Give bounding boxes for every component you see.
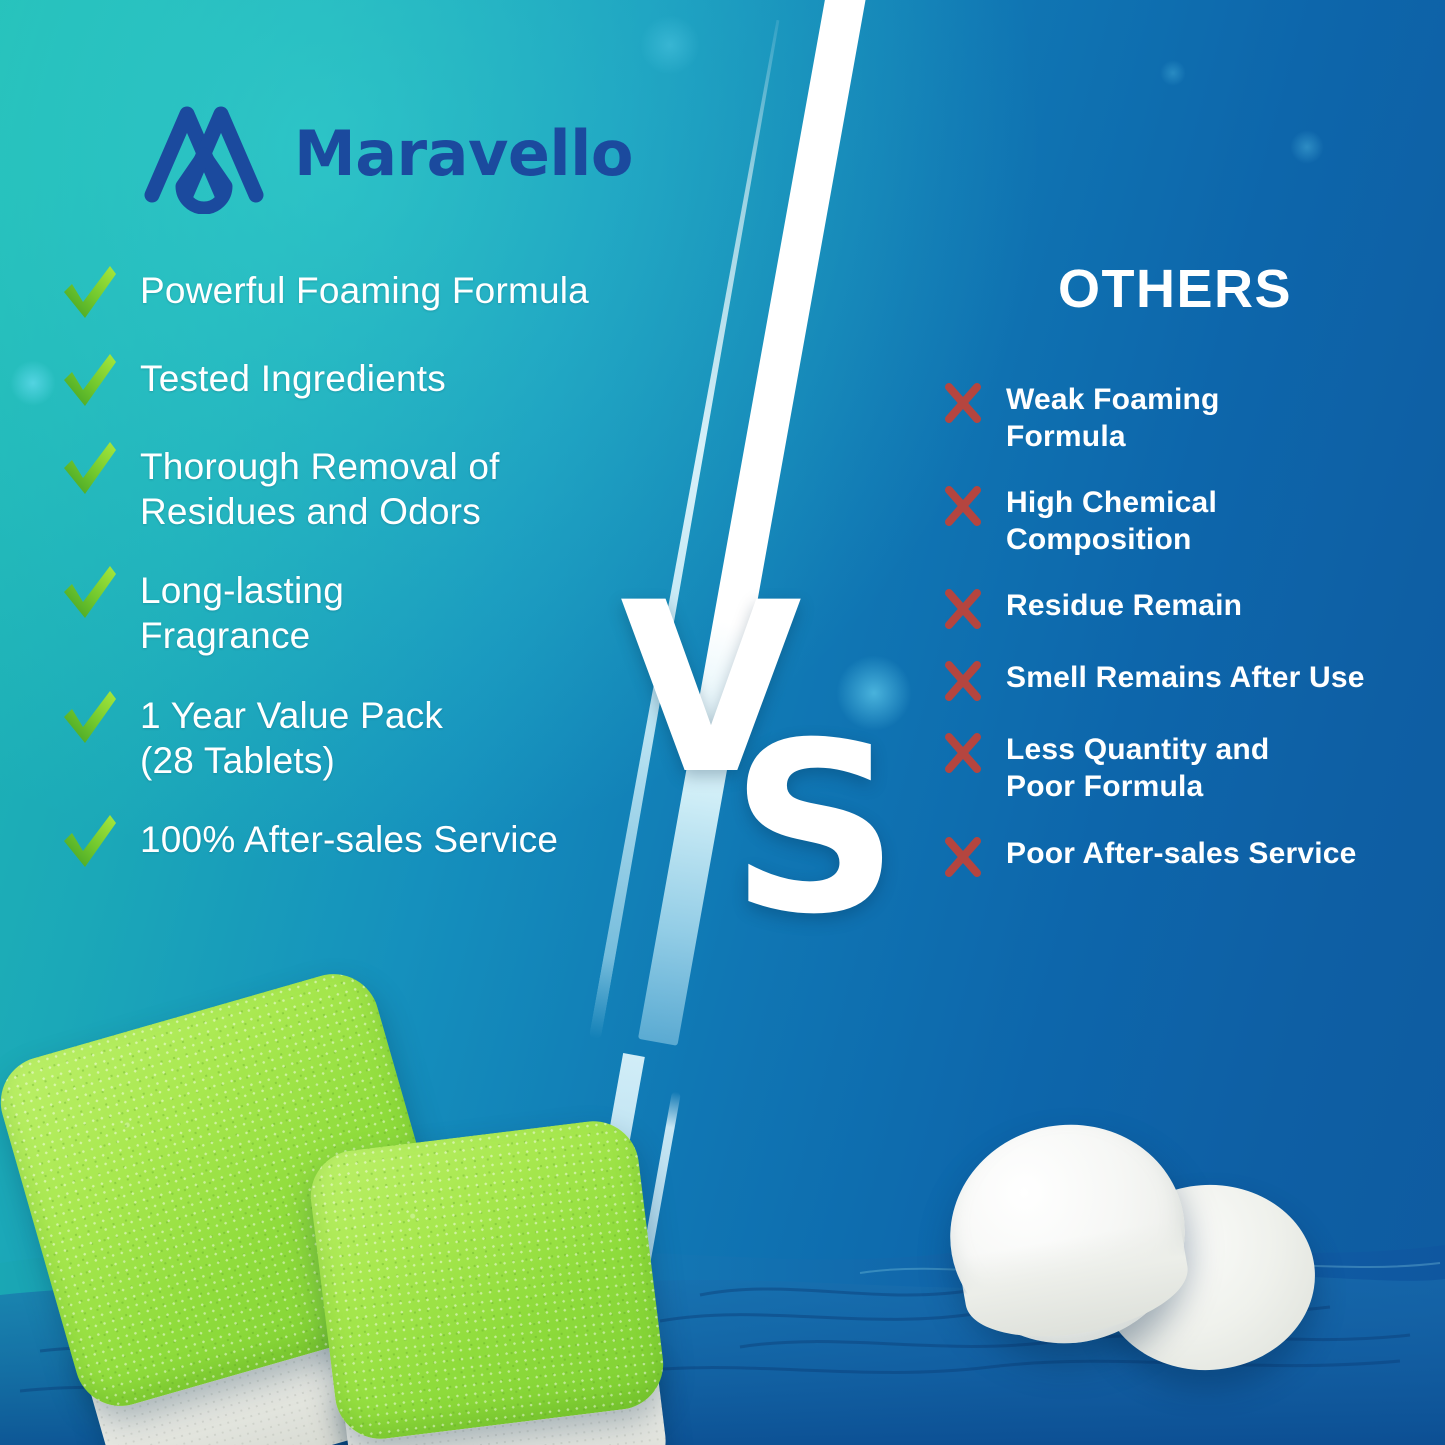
ours-feature-list: Powerful Foaming Formula Tested Ingredie… bbox=[60, 268, 700, 905]
list-item: Weak Foaming Formula bbox=[942, 382, 1422, 455]
list-item: Thorough Removal of Residues and Odors bbox=[60, 444, 700, 534]
list-item-label: Less Quantity and Poor Formula bbox=[1006, 732, 1269, 805]
green-tablet-back bbox=[306, 1116, 669, 1444]
tablet-green-face bbox=[306, 1116, 669, 1444]
list-item: 100% After-sales Service bbox=[60, 817, 700, 871]
list-item-label: Smell Remains After Use bbox=[1006, 660, 1365, 697]
green-check-icon bbox=[60, 564, 118, 622]
maravello-m-droplet-logo-icon bbox=[140, 92, 268, 214]
others-feature-list: Weak Foaming Formula High Chemical Compo… bbox=[942, 382, 1422, 908]
red-cross-icon bbox=[942, 588, 984, 630]
list-item: 1 Year Value Pack (28 Tablets) bbox=[60, 693, 700, 783]
infographic-canvas: Maravello Powerful Foaming Formula Teste… bbox=[0, 0, 1445, 1445]
brand-name: Maravello bbox=[294, 117, 633, 190]
list-item: Powerful Foaming Formula bbox=[60, 268, 700, 322]
list-item-label: 1 Year Value Pack (28 Tablets) bbox=[140, 693, 443, 783]
vs-letter-s: S bbox=[730, 712, 899, 947]
list-item-label: Poor After-sales Service bbox=[1006, 836, 1357, 873]
others-heading: OTHERS bbox=[950, 258, 1400, 320]
list-item-label: Residue Remain bbox=[1006, 588, 1242, 625]
list-item-label: Powerful Foaming Formula bbox=[140, 268, 589, 313]
bokeh-dot bbox=[640, 15, 700, 75]
list-item: Smell Remains After Use bbox=[942, 660, 1422, 702]
brand-logo: Maravello bbox=[140, 92, 633, 214]
red-cross-icon bbox=[942, 382, 984, 424]
list-item: Long-lasting Fragrance bbox=[60, 568, 700, 658]
bokeh-dot bbox=[1160, 60, 1186, 86]
list-item: Tested Ingredients bbox=[60, 356, 700, 410]
list-item: Residue Remain bbox=[942, 588, 1422, 630]
red-cross-icon bbox=[942, 485, 984, 527]
bokeh-dot bbox=[1290, 130, 1324, 164]
list-item-label: 100% After-sales Service bbox=[140, 817, 558, 862]
list-item-label: Long-lasting Fragrance bbox=[140, 568, 344, 658]
list-item: Poor After-sales Service bbox=[942, 836, 1422, 878]
list-item-label: High Chemical Composition bbox=[1006, 485, 1217, 558]
green-check-icon bbox=[60, 264, 118, 322]
list-item-label: Tested Ingredients bbox=[140, 356, 446, 401]
green-check-icon bbox=[60, 813, 118, 871]
green-check-icon bbox=[60, 689, 118, 747]
red-cross-icon bbox=[942, 732, 984, 774]
list-item-label: Weak Foaming Formula bbox=[1006, 382, 1220, 455]
red-cross-icon bbox=[942, 836, 984, 878]
list-item: High Chemical Composition bbox=[942, 485, 1422, 558]
bokeh-dot bbox=[836, 655, 912, 731]
red-cross-icon bbox=[942, 660, 984, 702]
list-item-label: Thorough Removal of Residues and Odors bbox=[140, 444, 500, 534]
green-check-icon bbox=[60, 440, 118, 498]
bokeh-dot bbox=[10, 360, 56, 406]
list-item: Less Quantity and Poor Formula bbox=[942, 732, 1422, 805]
green-check-icon bbox=[60, 352, 118, 410]
